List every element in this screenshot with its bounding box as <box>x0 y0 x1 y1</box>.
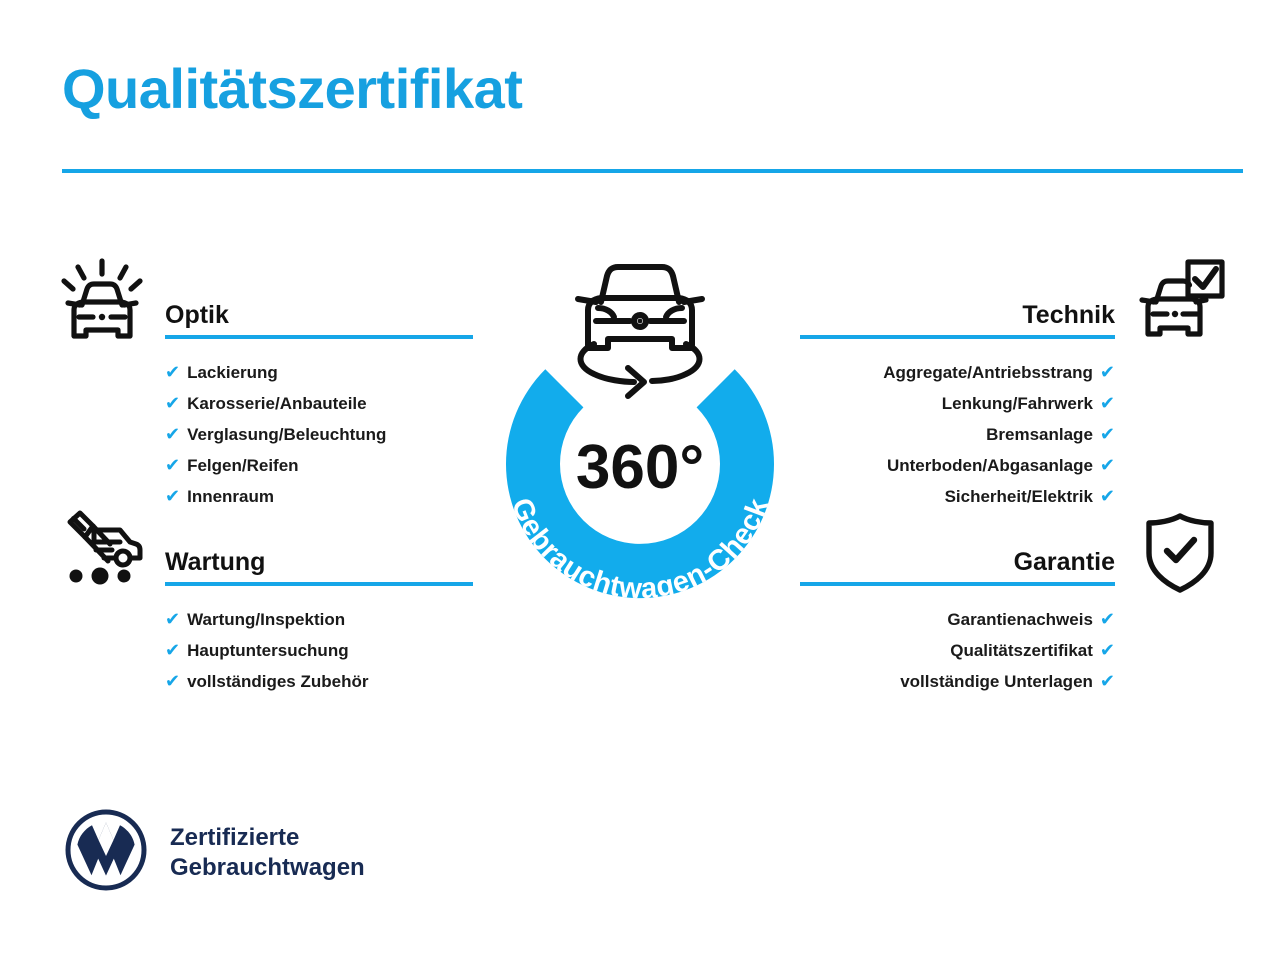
section-garantie: Garantie Garantienachweis✔Qualitätszerti… <box>800 545 1115 697</box>
checklist-item-label: Karosserie/Anbauteile <box>187 389 367 419</box>
check-icon: ✔ <box>165 635 180 665</box>
checklist-item: ✔Karosserie/Anbauteile <box>165 388 473 419</box>
checklist-item: vollständige Unterlagen✔ <box>800 666 1115 697</box>
section-optik: Optik ✔Lackierung✔Karosserie/Anbauteile✔… <box>165 298 473 512</box>
check-icon: ✔ <box>165 357 180 387</box>
checklist-item-label: Hauptuntersuchung <box>187 636 349 666</box>
checklist-item: ✔vollständiges Zubehör <box>165 666 473 697</box>
shield-check-icon <box>1141 512 1219 599</box>
checklist-item-label: Felgen/Reifen <box>187 451 298 481</box>
vw-logo <box>64 808 148 897</box>
footer-line-2: Gebrauchtwagen <box>170 853 365 883</box>
gebrauchtwagen-check-badge: 360° Gebrauchtwagen-Check <box>462 252 818 628</box>
section-garantie-divider <box>800 582 1115 586</box>
checklist-item: ✔Felgen/Reifen <box>165 450 473 481</box>
section-technik-divider <box>800 335 1115 339</box>
checklist-item-label: Qualitätszertifikat <box>950 636 1093 666</box>
checklist-item-label: Lackierung <box>187 358 278 388</box>
check-icon: ✔ <box>165 604 180 634</box>
checklist-item-label: vollständiges Zubehör <box>187 667 368 697</box>
footer-brand-lockup: Zertifizierte Gebrauchtwagen <box>64 808 365 897</box>
section-optik-divider <box>165 335 473 339</box>
footer-line-1: Zertifizierte <box>170 823 365 853</box>
car-360-rotation-icon <box>578 267 702 396</box>
checklist-item: Aggregate/Antriebsstrang✔ <box>800 357 1115 388</box>
checklist-item: ✔Wartung/Inspektion <box>165 604 473 635</box>
header-divider <box>62 169 1243 173</box>
section-wartung-head: Wartung <box>165 545 473 591</box>
section-garantie-title: Garantie <box>800 545 1115 579</box>
checklist-item-label: vollständige Unterlagen <box>900 667 1093 697</box>
checklist-item-label: Sicherheit/Elektrik <box>945 482 1093 512</box>
service-book-pencil-car-icon <box>60 508 144 591</box>
check-icon: ✔ <box>1100 635 1115 665</box>
checklist-item-label: Garantienachweis <box>947 605 1093 635</box>
checklist-item: ✔Hauptuntersuchung <box>165 635 473 666</box>
checklist-item: Garantienachweis✔ <box>800 604 1115 635</box>
section-wartung-divider <box>165 582 473 586</box>
check-icon: ✔ <box>165 388 180 418</box>
section-wartung-title: Wartung <box>165 545 473 579</box>
checklist-item: ✔Innenraum <box>165 481 473 512</box>
check-icon: ✔ <box>165 481 180 511</box>
check-icon: ✔ <box>1100 604 1115 634</box>
checklist-item-label: Aggregate/Antriebsstrang <box>883 358 1093 388</box>
checklist-item-label: Bremsanlage <box>986 420 1093 450</box>
checklist-item: ✔Lackierung <box>165 357 473 388</box>
checklist-item-label: Verglasung/Beleuchtung <box>187 420 386 450</box>
section-wartung: Wartung ✔Wartung/Inspektion✔Hauptuntersu… <box>165 545 473 697</box>
check-icon: ✔ <box>1100 388 1115 418</box>
section-wartung-list: ✔Wartung/Inspektion✔Hauptuntersuchung✔vo… <box>165 604 473 697</box>
check-icon: ✔ <box>165 450 180 480</box>
checklist-item: ✔Verglasung/Beleuchtung <box>165 419 473 450</box>
section-technik: Technik Aggregate/Antriebsstrang✔Lenkung… <box>800 298 1115 512</box>
checklist-item: Bremsanlage✔ <box>800 419 1115 450</box>
checklist-item-label: Lenkung/Fahrwerk <box>942 389 1093 419</box>
check-icon: ✔ <box>1100 481 1115 511</box>
section-optik-head: Optik <box>165 298 473 344</box>
checklist-item-label: Innenraum <box>187 482 274 512</box>
page-title: Qualitätszertifikat <box>62 58 522 120</box>
check-icon: ✔ <box>1100 357 1115 387</box>
checklist-item: Unterboden/Abgasanlage✔ <box>800 450 1115 481</box>
section-optik-title: Optik <box>165 298 473 332</box>
section-garantie-list: Garantienachweis✔Qualitätszertifikat✔vol… <box>800 604 1115 697</box>
check-icon: ✔ <box>1100 419 1115 449</box>
footer-brand-text: Zertifizierte Gebrauchtwagen <box>170 823 365 883</box>
check-icon: ✔ <box>165 419 180 449</box>
badge-center-text: 360° <box>576 433 704 502</box>
checklist-item: Qualitätszertifikat✔ <box>800 635 1115 666</box>
car-front-shine-icon <box>60 258 144 351</box>
section-technik-head: Technik <box>800 298 1115 344</box>
checklist-item: Sicherheit/Elektrik✔ <box>800 481 1115 512</box>
check-icon: ✔ <box>1100 450 1115 480</box>
section-technik-title: Technik <box>800 298 1115 332</box>
section-optik-list: ✔Lackierung✔Karosserie/Anbauteile✔Vergla… <box>165 357 473 512</box>
check-icon: ✔ <box>1100 666 1115 696</box>
checklist-item: Lenkung/Fahrwerk✔ <box>800 388 1115 419</box>
checklist-item-label: Wartung/Inspektion <box>187 605 345 635</box>
section-technik-list: Aggregate/Antriebsstrang✔Lenkung/Fahrwer… <box>800 357 1115 512</box>
checklist-item-label: Unterboden/Abgasanlage <box>887 451 1093 481</box>
section-garantie-head: Garantie <box>800 545 1115 591</box>
check-icon: ✔ <box>165 666 180 696</box>
car-front-checkbox-icon <box>1134 258 1226 351</box>
